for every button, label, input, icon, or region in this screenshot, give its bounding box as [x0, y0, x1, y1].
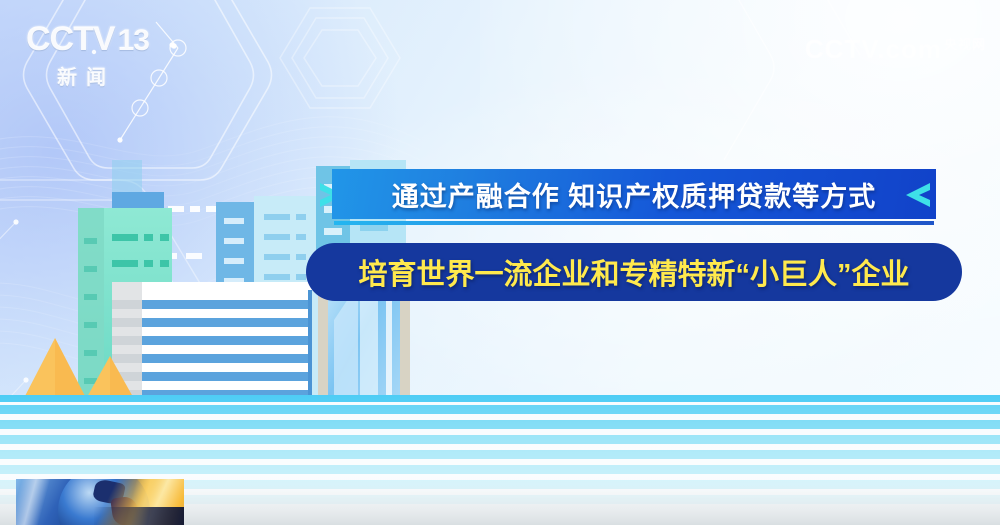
logo-subtitle: 新闻: [26, 61, 146, 90]
logo-primary-text: CCTV13: [26, 22, 146, 58]
logo-channel-number: 13: [118, 24, 149, 57]
chevron-left-icon: [902, 180, 932, 210]
cctv-com-watermark: CCTV.com央视网: [805, 34, 986, 65]
watermark-cn-text: 央视网: [944, 37, 986, 52]
news-globe-thumbnail: [16, 479, 184, 525]
cctv13-logo: CCTV13 新闻: [26, 22, 146, 90]
thumbnail-dark-band: [94, 507, 184, 525]
logo-cctv-text: CCTV: [26, 20, 115, 58]
headline-secondary-text: 培育世界一流企业和专精特新“小巨人”企业: [358, 251, 909, 293]
headline-banner-primary: 通过产融合作 知识产权质押贷款等方式: [332, 169, 936, 219]
headline-primary-text: 通过产融合作 知识产权质押贷款等方式: [392, 175, 877, 214]
headline-banner-secondary: 培育世界一流企业和专精特新“小巨人”企业: [306, 243, 962, 301]
broadcast-frame: CCTV13 新闻 CCTV.com央视网 通过产融合作 知识产权质押贷款等方式…: [0, 0, 1000, 525]
watermark-text: CCTV.com: [805, 34, 942, 64]
headline-banner-underline: [334, 221, 934, 225]
